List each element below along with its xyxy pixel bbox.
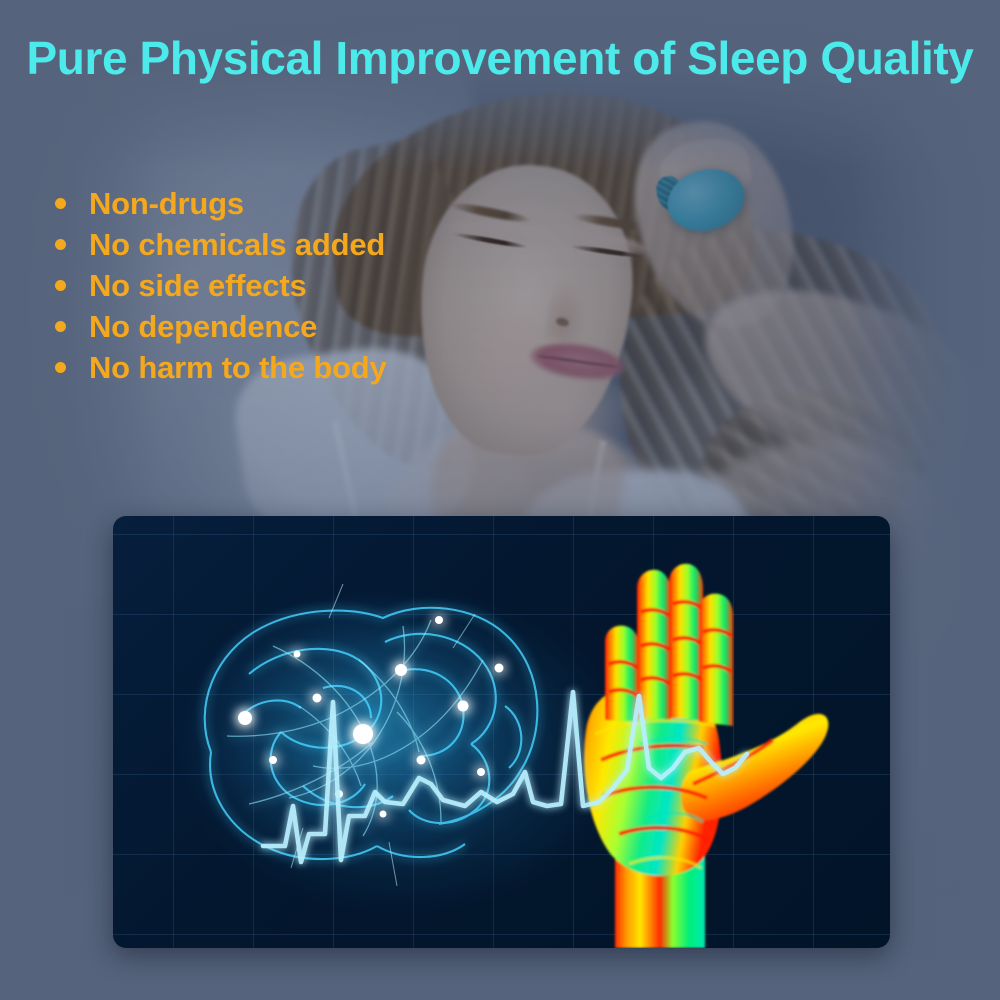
bullet-dot-icon xyxy=(55,321,66,332)
benefit-label: No harm to the body xyxy=(89,352,387,383)
brain-thermal-hand-panel xyxy=(113,516,890,948)
bullet-dot-icon xyxy=(55,362,66,373)
poster-stage: Pure Physical Improvement of Sleep Quali… xyxy=(0,0,1000,1000)
benefits-list: Non-drugs No chemicals added No side eff… xyxy=(55,183,387,388)
benefit-label: No dependence xyxy=(89,311,317,342)
benefit-label: Non-drugs xyxy=(89,188,244,219)
page-title: Pure Physical Improvement of Sleep Quali… xyxy=(0,31,1000,85)
benefit-label: No side effects xyxy=(89,270,307,301)
bullet-dot-icon xyxy=(55,280,66,291)
bullet-dot-icon xyxy=(55,198,66,209)
list-item: No harm to the body xyxy=(55,347,387,388)
list-item: No chemicals added xyxy=(55,224,387,265)
benefit-label: No chemicals added xyxy=(89,229,385,260)
brain-graphic xyxy=(153,556,593,916)
list-item: Non-drugs xyxy=(55,183,387,224)
bullet-dot-icon xyxy=(55,239,66,250)
list-item: No dependence xyxy=(55,306,387,347)
thermal-hand-graphic xyxy=(543,534,890,948)
list-item: No side effects xyxy=(55,265,387,306)
